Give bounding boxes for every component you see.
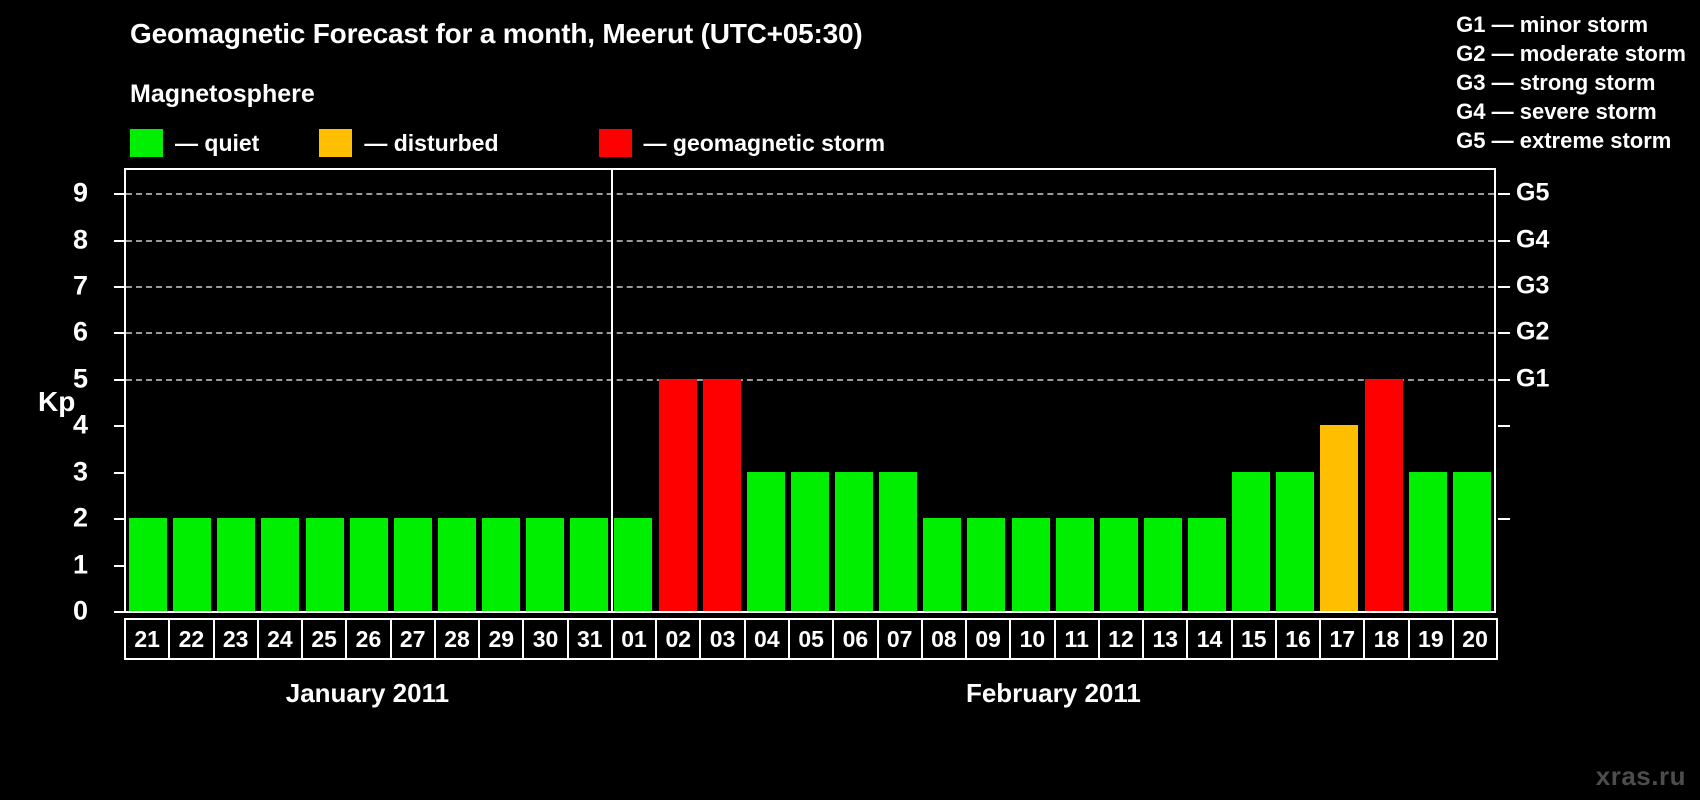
bar-february-04[interactable] [747, 472, 785, 611]
bar-february-19[interactable] [1409, 472, 1447, 611]
bar-january-23[interactable] [217, 518, 255, 611]
bar-cell[interactable] [920, 170, 964, 611]
day-label-january-30[interactable]: 30 [522, 618, 568, 660]
g-scale-line-1: G1 — minor storm [1456, 10, 1686, 39]
y-tick-label-9: 9 [48, 178, 88, 209]
y-tick-label-3: 3 [48, 456, 88, 487]
bar-cell[interactable] [567, 170, 611, 611]
g-scale-legend: G1 — minor stormG2 — moderate stormG3 — … [1456, 10, 1686, 155]
y-tick-label-4: 4 [48, 410, 88, 441]
g-tick-label-G2: G2 [1516, 318, 1549, 347]
bar-february-16[interactable] [1276, 472, 1314, 611]
bar-series [126, 170, 1494, 611]
chart-root: Geomagnetic Forecast for a month, Meerut… [0, 0, 1700, 800]
y-tick-mark-4 [114, 425, 124, 427]
bar-cell[interactable] [1229, 170, 1273, 611]
legend-swatch-quiet-icon [130, 129, 163, 157]
bar-cell[interactable] [523, 170, 567, 611]
bar-cell[interactable] [788, 170, 832, 611]
bar-cell[interactable] [391, 170, 435, 611]
y-tick-mark-2 [114, 518, 124, 520]
y-tick-label-6: 6 [48, 317, 88, 348]
day-label-february-05[interactable]: 05 [788, 618, 834, 660]
day-label-february-16[interactable]: 16 [1275, 618, 1321, 660]
plot-area [124, 168, 1496, 613]
g-scale-line-2: G2 — moderate storm [1456, 39, 1686, 68]
g-tick-label-G4: G4 [1516, 225, 1549, 254]
day-label-february-03[interactable]: 03 [699, 618, 745, 660]
bar-cell[interactable] [832, 170, 876, 611]
bar-cell[interactable] [700, 170, 744, 611]
month-divider [611, 170, 613, 611]
legend-item-storm: — geomagnetic storm [599, 129, 886, 157]
g-tick-label-G1: G1 [1516, 364, 1549, 393]
bar-cell[interactable] [744, 170, 788, 611]
y-tick-mark-0 [114, 611, 124, 613]
bar-january-27[interactable] [394, 518, 432, 611]
bar-february-09[interactable] [967, 518, 1005, 611]
plot-inner [126, 170, 1494, 611]
y-tick-label-2: 2 [48, 503, 88, 534]
y-tick-mark-6 [114, 332, 124, 334]
y-tick-label-0: 0 [48, 596, 88, 627]
bar-cell[interactable] [1362, 170, 1406, 611]
bar-cell[interactable] [258, 170, 302, 611]
legend-label-disturbed: — disturbed [364, 130, 498, 157]
day-label-february-04[interactable]: 04 [744, 618, 790, 660]
day-label-february-20[interactable]: 20 [1452, 618, 1498, 660]
bar-january-28[interactable] [438, 518, 476, 611]
y-tick-mark-9 [114, 193, 124, 195]
g-tick-mark-G2 [1498, 332, 1510, 334]
bar-february-20[interactable] [1453, 472, 1491, 611]
legend: — quiet— disturbed— geomagnetic storm [130, 128, 885, 158]
magnetosphere-label: Magnetosphere [130, 80, 315, 109]
legend-swatch-storm-icon [599, 129, 632, 157]
g-tick-mark-G1 [1498, 379, 1510, 381]
g-scale-line-5: G5 — extreme storm [1456, 126, 1686, 155]
bar-february-06[interactable] [835, 472, 873, 611]
g-scale-line-3: G3 — strong storm [1456, 68, 1686, 97]
day-label-february-17[interactable]: 17 [1319, 618, 1365, 660]
bar-cell[interactable] [1406, 170, 1450, 611]
bar-january-30[interactable] [526, 518, 564, 611]
day-label-february-07[interactable]: 07 [877, 618, 923, 660]
bar-january-31[interactable] [570, 518, 608, 611]
g-tick-label-G3: G3 [1516, 272, 1549, 301]
legend-label-storm: — geomagnetic storm [644, 130, 886, 157]
bar-january-29[interactable] [482, 518, 520, 611]
legend-item-disturbed: — disturbed [319, 129, 498, 157]
day-label-january-29[interactable]: 29 [478, 618, 524, 660]
day-label-january-25[interactable]: 25 [301, 618, 347, 660]
bar-february-14[interactable] [1188, 518, 1226, 611]
y-tick-mark-7 [114, 286, 124, 288]
y-tick-mark-3 [114, 472, 124, 474]
bar-february-07[interactable] [879, 472, 917, 611]
bar-cell[interactable] [435, 170, 479, 611]
bar-february-10[interactable] [1012, 518, 1050, 611]
bar-cell[interactable] [876, 170, 920, 611]
bar-cell[interactable] [1273, 170, 1317, 611]
g-tick-label-G5: G5 [1516, 179, 1549, 208]
bar-cell[interactable] [1185, 170, 1229, 611]
month-caption-1: February 2011 [611, 678, 1496, 709]
day-label-february-01[interactable]: 01 [611, 618, 657, 660]
day-label-february-19[interactable]: 19 [1408, 618, 1454, 660]
bar-february-13[interactable] [1144, 518, 1182, 611]
bar-cell[interactable] [126, 170, 170, 611]
bar-february-01[interactable] [614, 518, 652, 611]
bar-february-02[interactable] [659, 379, 697, 611]
legend-label-quiet: — quiet [175, 130, 259, 157]
bar-cell[interactable] [1097, 170, 1141, 611]
bar-cell[interactable] [656, 170, 700, 611]
bar-january-21[interactable] [129, 518, 167, 611]
day-label-january-28[interactable]: 28 [434, 618, 480, 660]
bar-february-15[interactable] [1232, 472, 1270, 611]
day-label-january-26[interactable]: 26 [345, 618, 391, 660]
g-tick-mark-minor-2 [1498, 518, 1510, 520]
bar-february-12[interactable] [1100, 518, 1138, 611]
bar-cell[interactable] [964, 170, 1008, 611]
bar-february-03[interactable] [703, 379, 741, 611]
day-label-january-31[interactable]: 31 [567, 618, 613, 660]
day-label-february-06[interactable]: 06 [832, 618, 878, 660]
bar-february-08[interactable] [923, 518, 961, 611]
bar-february-11[interactable] [1056, 518, 1094, 611]
day-label-february-12[interactable]: 12 [1098, 618, 1144, 660]
bar-cell[interactable] [1053, 170, 1097, 611]
day-label-january-27[interactable]: 27 [390, 618, 436, 660]
y-tick-label-8: 8 [48, 224, 88, 255]
bar-cell[interactable] [347, 170, 391, 611]
day-label-february-14[interactable]: 14 [1186, 618, 1232, 660]
bar-cell[interactable] [214, 170, 258, 611]
day-label-january-23[interactable]: 23 [213, 618, 259, 660]
bar-cell[interactable] [479, 170, 523, 611]
bar-cell[interactable] [1450, 170, 1494, 611]
g-tick-mark-G5 [1498, 193, 1510, 195]
day-label-february-11[interactable]: 11 [1054, 618, 1100, 660]
legend-swatch-disturbed-icon [319, 129, 352, 157]
bar-february-18[interactable] [1365, 379, 1403, 611]
bar-january-25[interactable] [306, 518, 344, 611]
bar-cell[interactable] [1009, 170, 1053, 611]
bar-cell[interactable] [1317, 170, 1361, 611]
bar-january-26[interactable] [350, 518, 388, 611]
page-title: Geomagnetic Forecast for a month, Meerut… [130, 18, 863, 50]
day-label-february-02[interactable]: 02 [655, 618, 701, 660]
g-tick-mark-G4 [1498, 240, 1510, 242]
g-tick-mark-minor-4 [1498, 425, 1510, 427]
day-label-february-13[interactable]: 13 [1142, 618, 1188, 660]
day-label-january-22[interactable]: 22 [168, 618, 214, 660]
legend-item-quiet: — quiet [130, 129, 259, 157]
g-scale-line-4: G4 — severe storm [1456, 97, 1686, 126]
y-tick-mark-8 [114, 240, 124, 242]
day-label-february-15[interactable]: 15 [1231, 618, 1277, 660]
day-label-january-24[interactable]: 24 [257, 618, 303, 660]
day-label-strip: 2122232425262728293031010203040506070809… [124, 618, 1496, 660]
day-label-february-10[interactable]: 10 [1009, 618, 1055, 660]
day-label-february-08[interactable]: 08 [921, 618, 967, 660]
g-tick-mark-G3 [1498, 286, 1510, 288]
bar-january-22[interactable] [173, 518, 211, 611]
day-label-february-18[interactable]: 18 [1363, 618, 1409, 660]
bar-cell[interactable] [611, 170, 655, 611]
day-label-february-09[interactable]: 09 [965, 618, 1011, 660]
bar-february-17[interactable] [1320, 425, 1358, 611]
bar-february-05[interactable] [791, 472, 829, 611]
month-caption-0: January 2011 [124, 678, 611, 709]
y-tick-label-5: 5 [48, 363, 88, 394]
y-tick-mark-1 [114, 565, 124, 567]
y-tick-mark-5 [114, 379, 124, 381]
watermark: xras.ru [1596, 761, 1686, 792]
day-label-january-21[interactable]: 21 [124, 618, 170, 660]
bar-january-24[interactable] [261, 518, 299, 611]
y-tick-label-7: 7 [48, 271, 88, 302]
y-tick-label-1: 1 [48, 549, 88, 580]
bar-cell[interactable] [170, 170, 214, 611]
bar-cell[interactable] [1141, 170, 1185, 611]
bar-cell[interactable] [303, 170, 347, 611]
